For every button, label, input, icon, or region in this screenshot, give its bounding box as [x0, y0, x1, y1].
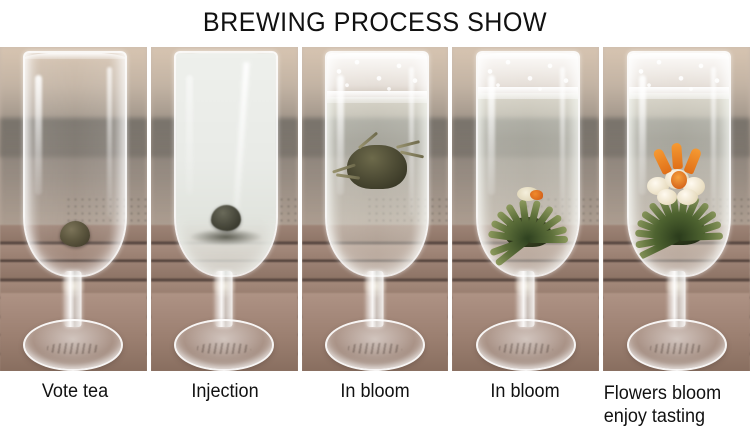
- caption-in-bloom-1: In bloom: [304, 374, 447, 430]
- photo-panel-in-bloom-opening[interactable]: [300, 47, 451, 371]
- glass-foot: [627, 319, 727, 371]
- orange-lily-petal: [671, 143, 683, 170]
- dry-tea-ball: [60, 221, 90, 247]
- spreading-tea-flower: [476, 177, 580, 251]
- glass-foot: [174, 319, 274, 371]
- photo-panel-in-bloom-spreading[interactable]: [450, 47, 601, 371]
- glass-bowl: [325, 51, 429, 277]
- wine-glass: [165, 47, 283, 371]
- jasmine-blossom: [677, 189, 698, 205]
- glass-bowl: [174, 51, 278, 277]
- photo-panel-vote-tea[interactable]: [0, 47, 149, 371]
- photo-strip: [0, 47, 750, 371]
- caption-line-1: In bloom: [340, 381, 409, 403]
- caption-vote-tea: Vote tea: [4, 374, 147, 430]
- brewing-process-infographic: BREWING PROCESS SHOW: [0, 0, 750, 430]
- caption-in-bloom-2: In bloom: [454, 374, 597, 430]
- wet-tea-ball: [211, 205, 241, 231]
- wine-glass: [316, 47, 434, 371]
- glass-foot: [476, 319, 576, 371]
- orange-lily-core: [671, 171, 687, 189]
- jasmine-blossom: [657, 189, 677, 205]
- caption-flowers-bloom: Flowers bloom enjoy tasting: [604, 374, 747, 430]
- wine-glass: [618, 47, 736, 371]
- glass-bowl: [23, 51, 127, 277]
- caption-line-1: Vote tea: [42, 381, 108, 403]
- blooming-tea-flower: [627, 131, 731, 247]
- caption-line-1: In bloom: [490, 381, 559, 403]
- orange-lily-petal: [683, 147, 702, 175]
- photo-panel-flowers-bloom[interactable]: [601, 47, 750, 371]
- glass-foot: [23, 319, 123, 371]
- caption-line-1: Injection: [191, 381, 258, 403]
- caption-line-1: Flowers bloom: [604, 383, 721, 405]
- photo-panel-injection[interactable]: [149, 47, 300, 371]
- orange-lily-petal: [652, 147, 672, 175]
- page-title: BREWING PROCESS SHOW: [26, 0, 724, 44]
- glass-foot: [325, 319, 425, 371]
- caption-row: Vote tea Injection In bloom In bloom Flo…: [0, 374, 750, 430]
- glass-bowl: [476, 51, 580, 277]
- wine-glass: [14, 47, 132, 371]
- opening-tea-bud: [338, 141, 416, 197]
- glass-bowl: [627, 51, 731, 277]
- caption-injection: Injection: [154, 374, 297, 430]
- wine-glass: [467, 47, 585, 371]
- caption-line-2: enjoy tasting: [604, 406, 705, 428]
- soaking-tea-spread: [190, 229, 262, 245]
